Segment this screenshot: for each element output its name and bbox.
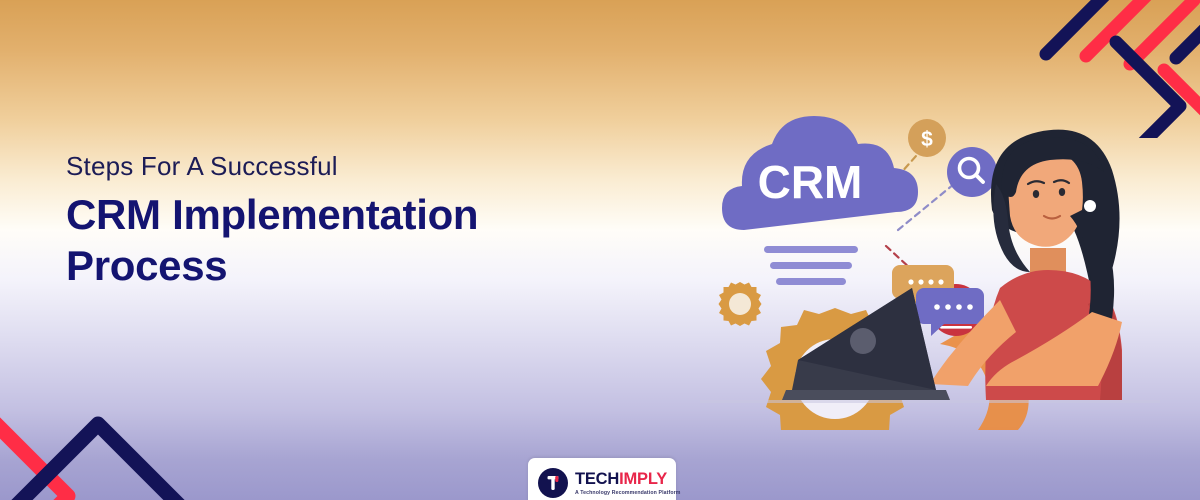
earring <box>1084 200 1096 212</box>
hero-kicker: Steps For A Successful <box>66 150 686 183</box>
hero-headline-line-2: Process <box>66 240 686 291</box>
hero-illustration-svg: CRM $ <box>700 60 1160 430</box>
logo-word-tech: TECH <box>575 470 619 488</box>
laptop-base <box>782 390 950 400</box>
techimply-logo-words: TECHIMPLY A Technology Recommendation Pl… <box>575 471 681 496</box>
cloud-label: CRM <box>758 156 863 208</box>
hero-headline: CRM Implementation Process <box>66 189 686 291</box>
logo-word-imply: IMPLY <box>619 470 667 488</box>
gear-small-icon <box>719 282 762 326</box>
svg-text:$: $ <box>921 128 933 151</box>
cloud-document-lines <box>764 246 858 285</box>
techimply-logo[interactable]: TECHIMPLY A Technology Recommendation Pl… <box>528 458 676 500</box>
logo-tagline: A Technology Recommendation Platform <box>575 490 681 496</box>
techimply-wordmark: TECHIMPLY <box>575 471 681 488</box>
crm-cloud: CRM <box>722 116 918 230</box>
hero-text-block: Steps For A Successful CRM Implementatio… <box>66 150 686 291</box>
hero-headline-line-1: CRM Implementation <box>66 189 686 240</box>
laptop-logo <box>850 328 876 354</box>
chevron-cluster-bottom-left <box>0 378 210 500</box>
hero-illustration: CRM $ <box>700 60 1160 430</box>
dollar-badge-icon: $ <box>908 119 946 157</box>
chevron-bottom-left-svg <box>0 378 210 500</box>
hero-banner: Steps For A Successful CRM Implementatio… <box>0 0 1200 500</box>
search-badge-icon <box>947 147 997 197</box>
techimply-logo-mark-icon <box>538 468 568 498</box>
desk-edge <box>700 400 1160 403</box>
